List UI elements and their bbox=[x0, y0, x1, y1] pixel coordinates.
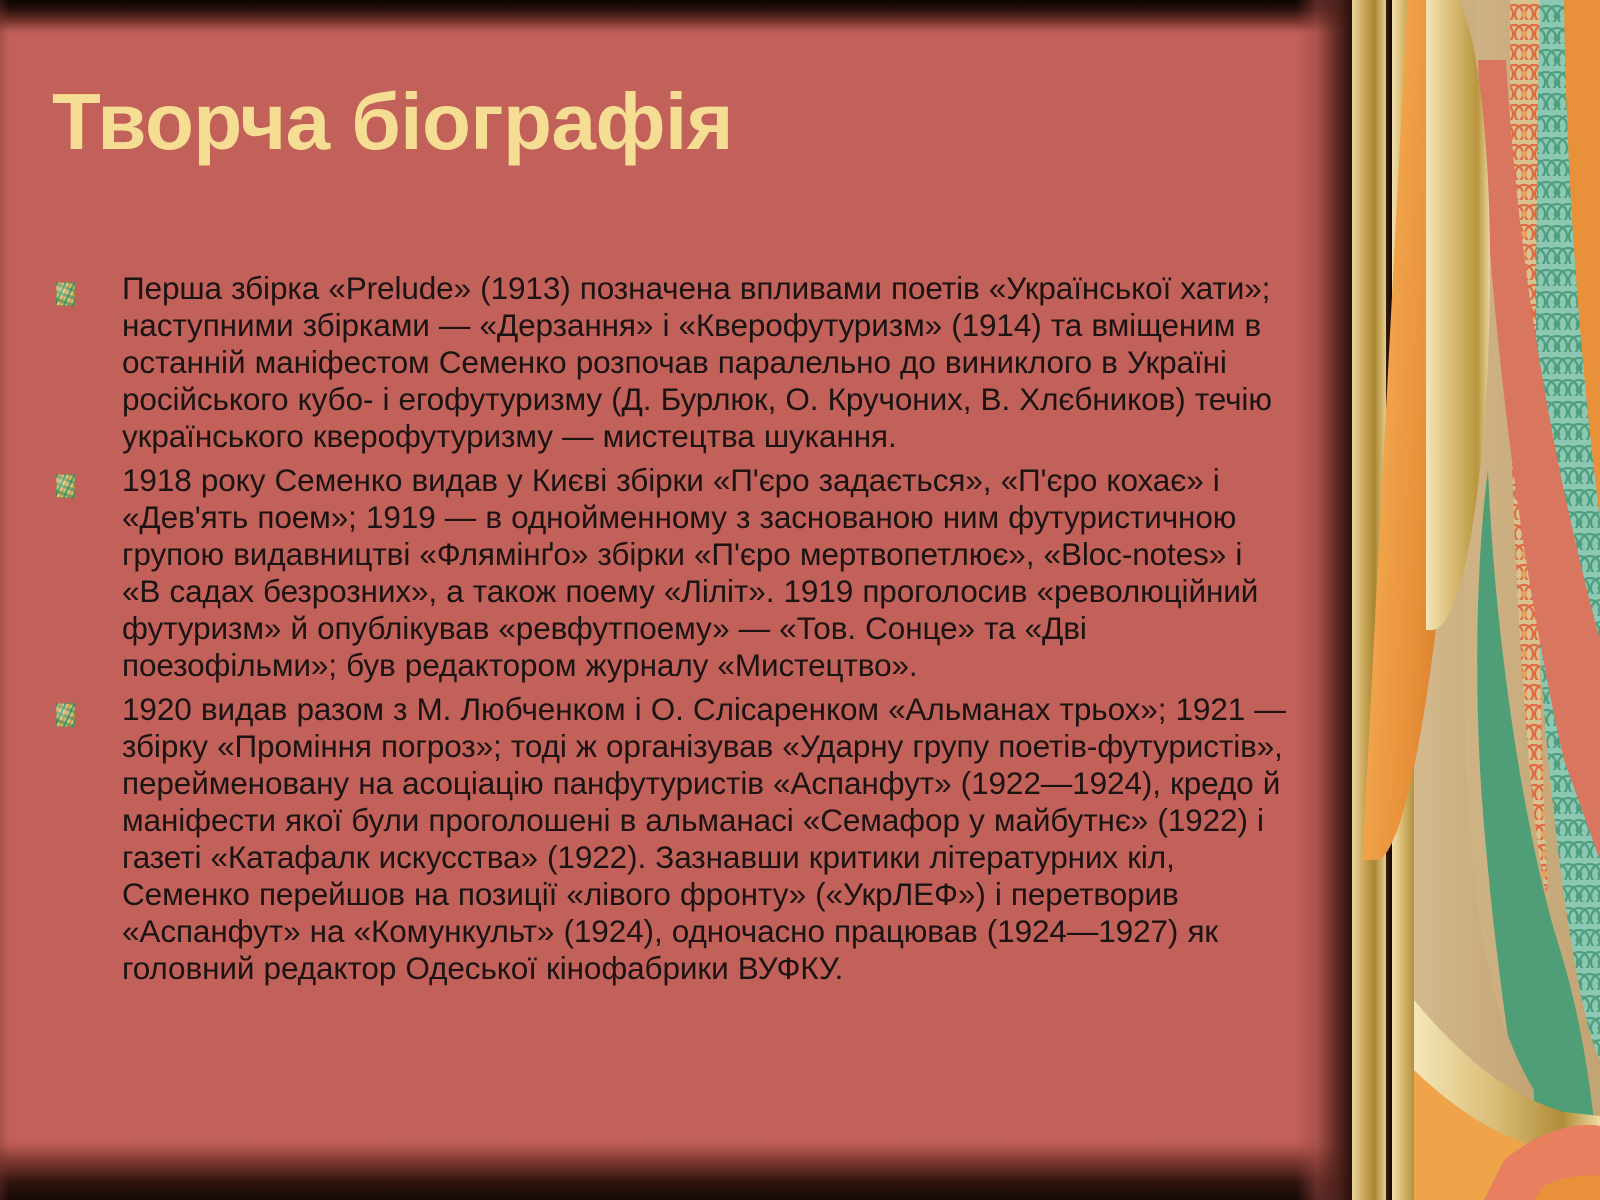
list-item: Перша збірка «Prelude» (1913) позначена … bbox=[56, 270, 1286, 455]
list-item-text: 1920 видав разом з М. Любченком і О. Слі… bbox=[122, 691, 1286, 987]
ornament-square-bullet-icon bbox=[56, 282, 75, 306]
list-item-text: Перша збірка «Prelude» (1913) позначена … bbox=[122, 270, 1286, 455]
list-item: 1918 року Семенко видав у Києві збірки «… bbox=[56, 462, 1286, 684]
top-shadow-gradient bbox=[0, 0, 1352, 34]
right-shadow-gradient bbox=[1296, 0, 1352, 1200]
bottom-shadow-gradient bbox=[0, 1138, 1352, 1200]
list-item-text: 1918 року Семенко видав у Києві збірки «… bbox=[122, 462, 1286, 684]
slide-content-panel: Творча біографія Перша збірка «Prelude» … bbox=[0, 0, 1352, 1200]
decorative-border bbox=[1352, 0, 1600, 1200]
ornament-square-bullet-icon bbox=[56, 703, 75, 727]
ornament-square-bullet-icon bbox=[56, 474, 75, 498]
bulleted-body-list: Перша збірка «Prelude» (1913) позначена … bbox=[56, 270, 1286, 994]
page-title: Творча біографія bbox=[52, 82, 733, 162]
list-item: 1920 видав разом з М. Любченком і О. Слі… bbox=[56, 691, 1286, 987]
slide: Творча біографія Перша збірка «Prelude» … bbox=[0, 0, 1600, 1200]
left-shadow-gradient bbox=[0, 0, 10, 1200]
